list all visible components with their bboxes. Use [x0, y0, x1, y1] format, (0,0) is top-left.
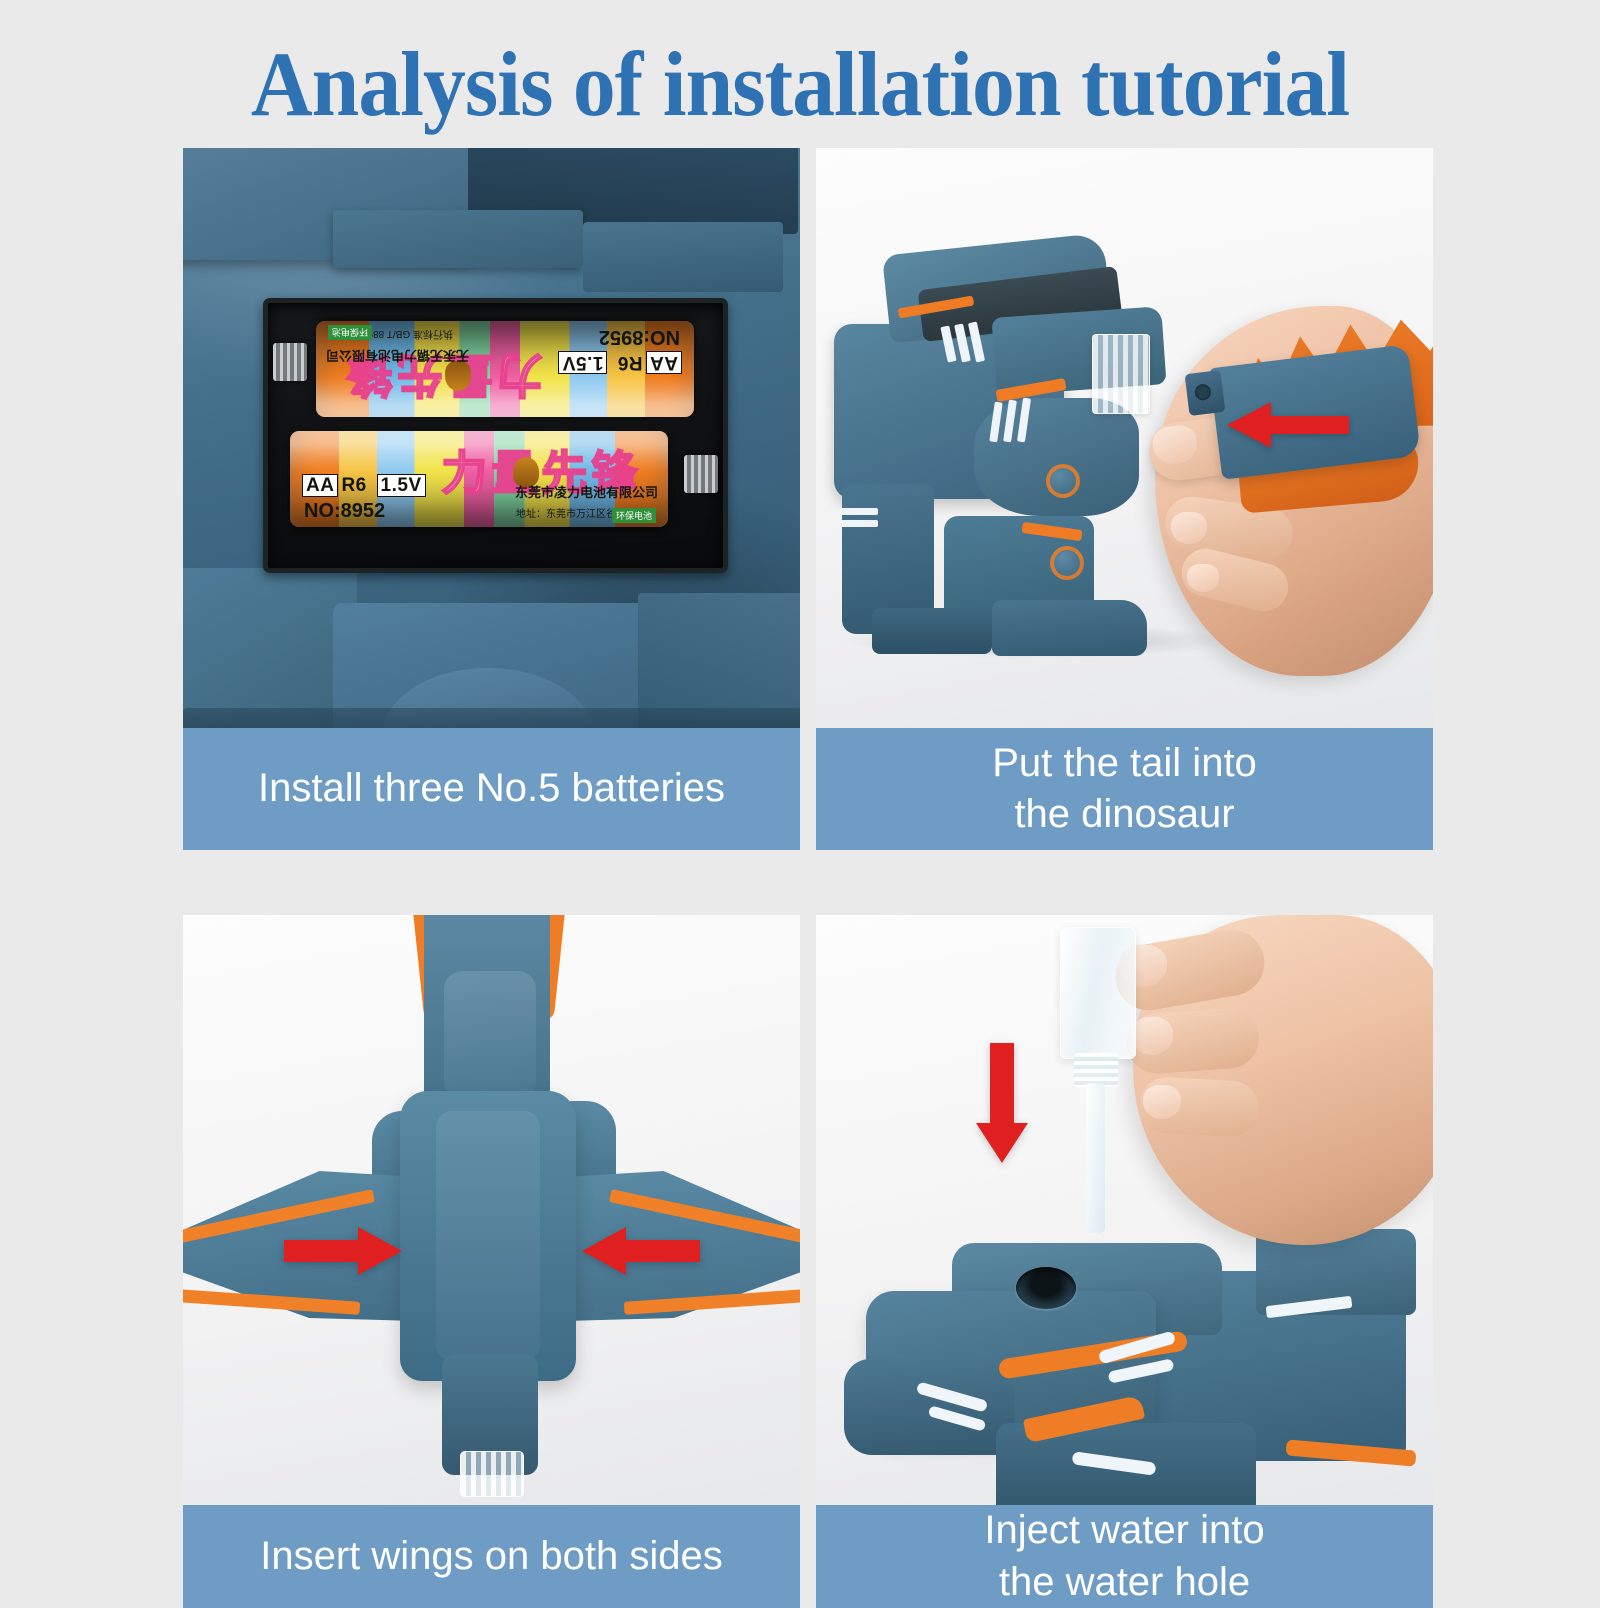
battery-spring-right: [684, 455, 718, 493]
clear-nozzle-part: [460, 1451, 524, 1497]
tutorial-grid: 力量先锋 AAR6 1.5V NO:8952 无汞无镉力电池有限公司 执行标准 …: [183, 148, 1433, 1608]
battery-spec-label: AAR6 1.5V: [555, 351, 682, 373]
battery-spring-left: [273, 343, 307, 381]
arrow-right-icon: [284, 1227, 402, 1275]
tail-connector-peg: [1185, 370, 1226, 416]
step-caption-insert-wings: Insert wings on both sides: [183, 1505, 800, 1608]
arrow-down-icon: [976, 1043, 1028, 1163]
caption-line: Inject water into: [984, 1505, 1264, 1556]
dropper-tip: [1086, 1083, 1105, 1233]
step-caption-install-batteries: Install three No.5 batteries: [183, 728, 800, 850]
step-card-inject-water: Inject water into the water hole: [816, 915, 1433, 1608]
battery-compartment-photo: 力量先锋 AAR6 1.5V NO:8952 无汞无镉力电池有限公司 执行标准 …: [183, 148, 800, 728]
battery-compartment: 力量先锋 AAR6 1.5V NO:8952 无汞无镉力电池有限公司 执行标准 …: [263, 298, 728, 573]
battery-spec-label: AAR6 1.5V: [302, 475, 429, 497]
wings-topview-photo: [183, 915, 800, 1505]
arrow-left-icon: [582, 1227, 700, 1275]
step-card-insert-wings: Insert wings on both sides: [183, 915, 800, 1608]
battery-eco-badge: 环保电池: [328, 325, 372, 340]
step-caption-inject-water: Inject water into the water hole: [816, 1505, 1433, 1608]
screw-icon: [1046, 464, 1080, 498]
step-card-attach-tail: Put the tail into the dinosaur: [816, 148, 1433, 850]
toy-shell-background: 力量先锋 AAR6 1.5V NO:8952 无汞无镉力电池有限公司 执行标准 …: [183, 148, 800, 728]
screw-icon: [1050, 546, 1084, 580]
battery-cell-top: 力量先锋 AAR6 1.5V NO:8952 无汞无镉力电池有限公司 执行标准 …: [316, 321, 694, 417]
water-hole: [1016, 1267, 1076, 1309]
battery-number-label: NO:8952: [599, 325, 680, 348]
dinosaur-toy: [824, 216, 1184, 636]
tail-attachment-photo: [816, 148, 1433, 728]
battery-manufacturer-label: 东莞市凌力电池有限公司: [515, 485, 658, 501]
water-injection-photo: [816, 915, 1433, 1505]
arrow-left-icon: [1225, 398, 1351, 450]
caption-line: Insert wings on both sides: [260, 1531, 722, 1582]
toy-top-view: [192, 915, 792, 1505]
battery-logo-icon: [445, 361, 471, 391]
battery-cell-bottom: 力量先锋 AAR6 1.5V NO:8952 东莞市凌力电池有限公司 地址：东莞…: [290, 431, 668, 527]
battery-logo-icon: [513, 457, 539, 487]
dinosaur-tail-part: [1215, 310, 1433, 540]
step-caption-attach-tail: Put the tail into the dinosaur: [816, 728, 1433, 850]
water-dropper-bottle: [1056, 927, 1136, 1127]
caption-line: Put the tail into: [992, 738, 1257, 789]
caption-line: the water hole: [984, 1557, 1264, 1608]
battery-eco-badge: 环保电池: [612, 508, 656, 523]
battery-number-label: NO:8952: [304, 500, 385, 523]
clear-crystal-part: [1092, 334, 1150, 414]
battery-manufacturer-label: 无汞无镉力电池有限公司: [326, 347, 469, 363]
caption-line: Install three No.5 batteries: [258, 763, 725, 814]
page-title: Analysis of installation tutorial: [56, 38, 1544, 130]
step-card-install-batteries: 力量先锋 AAR6 1.5V NO:8952 无汞无镉力电池有限公司 执行标准 …: [183, 148, 800, 850]
caption-line: the dinosaur: [992, 789, 1257, 840]
